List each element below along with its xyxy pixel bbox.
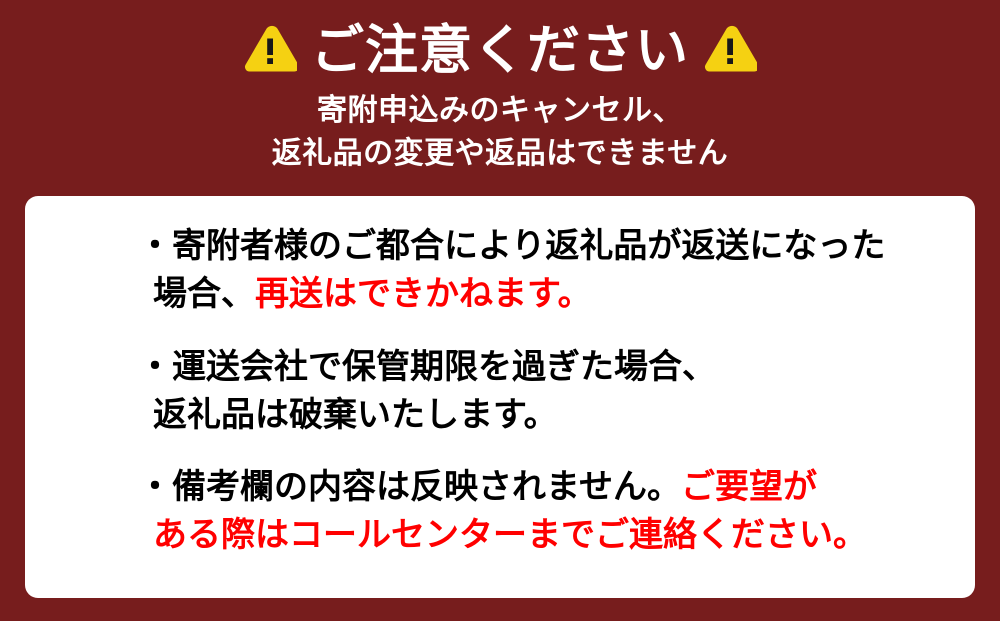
notice-text-red: ご要望が	[681, 468, 817, 506]
notice-list: ・寄附者様のご都合により返礼品が返送になった 場合、再送はできかねます。 ・運送…	[25, 222, 975, 560]
notice-text-black: 寄附者様のご都合により返礼品が返送になった	[172, 227, 885, 265]
banner-header: ご注意ください 寄附申込みのキャンセル、 返礼品の変更や返品はできません	[0, 0, 1000, 175]
subtitle-line-2: 返礼品の変更や返品はできません	[0, 133, 1000, 176]
notice-line-1: ・運送会社で保管期限を過ぎた場合、	[138, 343, 955, 391]
notice-text-black: 場合、	[153, 275, 255, 313]
bullet-marker: ・	[138, 468, 172, 506]
title-row: ご注意ください	[0, 14, 1000, 86]
notice-text-black: 運送会社で保管期限を過ぎた場合、	[172, 348, 716, 386]
notice-line-2: 返礼品は破棄いたします。	[138, 391, 955, 439]
notice-banner: ご注意ください 寄附申込みのキャンセル、 返礼品の変更や返品はできません ・寄附…	[0, 0, 1000, 621]
bullet-marker: ・	[138, 227, 172, 265]
warning-triangle-icon	[243, 25, 297, 75]
notice-text-red: 再送はできかねます。	[255, 275, 592, 313]
page-title: ご注意ください	[311, 24, 689, 77]
notice-text-black: 備考欄の内容は反映されません。	[172, 468, 681, 506]
warning-triangle-icon	[703, 25, 757, 75]
notice-card: ・寄附者様のご都合により返礼品が返送になった 場合、再送はできかねます。 ・運送…	[25, 196, 975, 598]
notice-line-1: ・寄附者様のご都合により返礼品が返送になった	[138, 222, 955, 270]
notice-line-2: ある際はコールセンターまでご連絡ください。	[138, 511, 955, 559]
banner-subtitle: 寄附申込みのキャンセル、 返礼品の変更や返品はできません	[0, 90, 1000, 175]
notice-line-2: 場合、再送はできかねます。	[138, 270, 955, 318]
notice-line-1: ・備考欄の内容は反映されません。ご要望が	[138, 463, 955, 511]
list-item: ・運送会社で保管期限を過ぎた場合、 返礼品は破棄いたします。	[25, 343, 975, 440]
notice-text-black: 返礼品は破棄いたします。	[153, 396, 558, 434]
subtitle-line-1: 寄附申込みのキャンセル、	[0, 90, 1000, 133]
list-item: ・寄附者様のご都合により返礼品が返送になった 場合、再送はできかねます。	[25, 222, 975, 319]
list-item: ・備考欄の内容は反映されません。ご要望が ある際はコールセンターまでご連絡くださ…	[25, 463, 975, 560]
bullet-marker: ・	[138, 348, 172, 386]
